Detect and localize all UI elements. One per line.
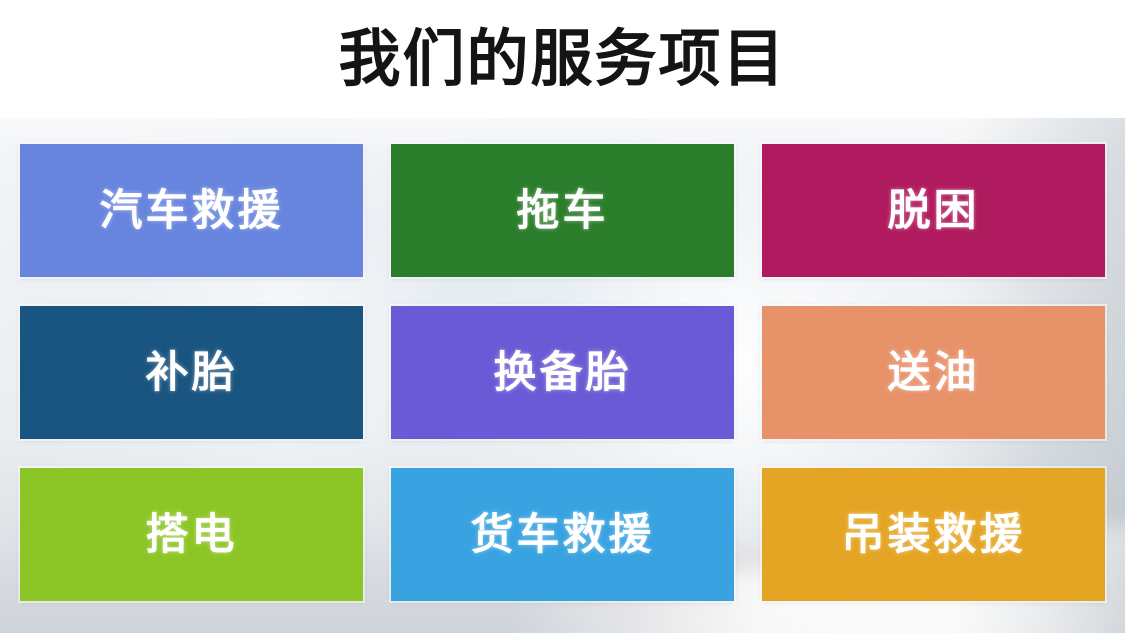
service-tile-jump-start[interactable]: 搭电: [20, 468, 363, 601]
service-tile-label: 搭电: [146, 512, 238, 558]
service-tile-tire-repair[interactable]: 补胎: [20, 306, 363, 439]
service-tile-label: 货车救援: [471, 512, 655, 558]
service-tile-extrication[interactable]: 脱困: [762, 144, 1105, 277]
service-tile-label: 补胎: [146, 350, 238, 396]
service-tile-fuel-delivery[interactable]: 送油: [762, 306, 1105, 439]
service-tile-spare-tire-change[interactable]: 换备胎: [391, 306, 734, 439]
service-tile-tow-truck[interactable]: 拖车: [391, 144, 734, 277]
service-poster: 我们的服务项目 汽车救援拖车脱困补胎换备胎送油搭电货车救援吊装救援: [0, 0, 1125, 633]
service-tile-label: 脱困: [888, 188, 980, 234]
service-tile-label: 送油: [888, 350, 980, 396]
service-tile-grid: 汽车救援拖车脱困补胎换备胎送油搭电货车救援吊装救援: [20, 144, 1105, 602]
service-tile-hoisting-rescue[interactable]: 吊装救援: [762, 468, 1105, 601]
page-title: 我们的服务项目: [0, 22, 1125, 96]
service-tile-label: 拖车: [517, 188, 609, 234]
service-tile-label: 汽车救援: [100, 188, 284, 234]
service-tile-label: 吊装救援: [842, 512, 1026, 558]
service-tile-truck-rescue[interactable]: 货车救援: [391, 468, 734, 601]
service-tile-label: 换备胎: [494, 350, 632, 396]
service-tile-car-rescue[interactable]: 汽车救援: [20, 144, 363, 277]
